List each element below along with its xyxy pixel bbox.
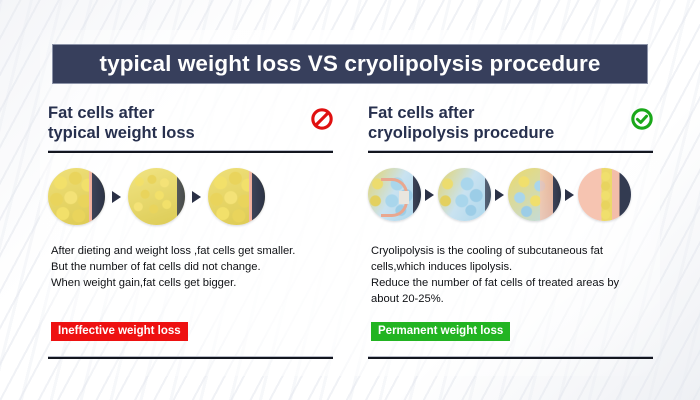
fat-cell-stage-1 [48,168,105,225]
illustration-cryolipolysis [368,168,631,221]
column-cryolipolysis-procedure: Fat cells after cryolipolysis procedure [368,104,653,148]
status-badge-permanent: Permanent weight loss [371,322,510,341]
cryo-stage-3 [508,168,561,221]
header-divider [368,150,653,153]
cryo-stage-2 [438,168,491,221]
column-heading: Fat cells after typical weight loss [48,104,195,144]
fat-cell-stage-2 [128,168,185,225]
illustration-typical-weight-loss [48,168,265,225]
header-divider [48,150,333,153]
prohibition-icon [311,108,333,130]
column-header: Fat cells after typical weight loss [48,104,333,148]
cryo-stage-1 [368,168,421,221]
arrow-icon [565,189,574,201]
check-circle-icon [631,108,653,130]
footer-divider [368,356,653,359]
fat-cell-stage-3 [208,168,265,225]
arrow-icon [495,189,504,201]
column-body-text: After dieting and weight loss ,fat cells… [51,244,336,292]
column-typical-weight-loss: Fat cells after typical weight loss [48,104,333,148]
arrow-icon [425,189,434,201]
cryo-stage-4 [578,168,631,221]
arrow-icon [192,191,201,203]
column-body-text: Cryolipolysis is the cooling of subcutan… [371,244,656,308]
status-badge-ineffective: Ineffective weight loss [51,322,188,341]
infographic-canvas: typical weight loss VS cryolipolysis pro… [0,0,700,400]
column-header: Fat cells after cryolipolysis procedure [368,104,653,148]
column-heading: Fat cells after cryolipolysis procedure [368,104,554,144]
page-title: typical weight loss VS cryolipolysis pro… [99,51,600,77]
arrow-icon [112,191,121,203]
title-banner: typical weight loss VS cryolipolysis pro… [52,44,648,84]
footer-divider [48,356,333,359]
